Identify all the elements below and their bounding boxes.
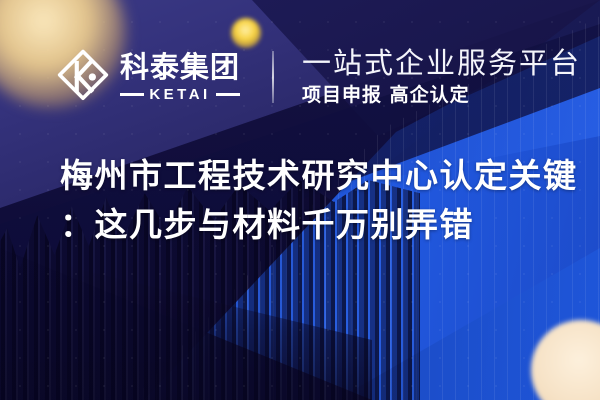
banner-headline: 梅州市工程技术研究中心认定关键 ：这几步与材料千万别弄错	[60, 152, 560, 250]
tagline-main-text: 一站式企业服务平台	[302, 48, 581, 80]
dash-right-icon	[216, 93, 240, 96]
ketai-diamond-k-icon	[57, 49, 109, 105]
tagline-sub-text: 项目申报 高企认定	[302, 84, 581, 107]
headline-line-2: ：这几步与材料千万别弄错	[60, 201, 560, 250]
brand-name-en-row: KETAI	[120, 87, 240, 102]
brand-wordmark: 科泰集团 KETAI	[120, 53, 240, 102]
brand-name-en: KETAI	[144, 87, 215, 102]
brand-logo: 科泰集团 KETAI	[57, 49, 240, 105]
brand-tagline: 一站式企业服务平台 项目申报 高企认定	[302, 48, 581, 107]
banner-header: 科泰集团 KETAI 一站式企业服务平台 项目申报 高企认定	[0, 42, 600, 112]
dash-left-icon	[120, 93, 144, 96]
brand-name-cn: 科泰集团	[120, 53, 240, 82]
vertical-divider-icon	[272, 51, 274, 103]
headline-line-1: 梅州市工程技术研究中心认定关键	[60, 152, 560, 201]
promo-banner: 科泰集团 KETAI 一站式企业服务平台 项目申报 高企认定 梅州市工程技术研究…	[0, 0, 600, 400]
